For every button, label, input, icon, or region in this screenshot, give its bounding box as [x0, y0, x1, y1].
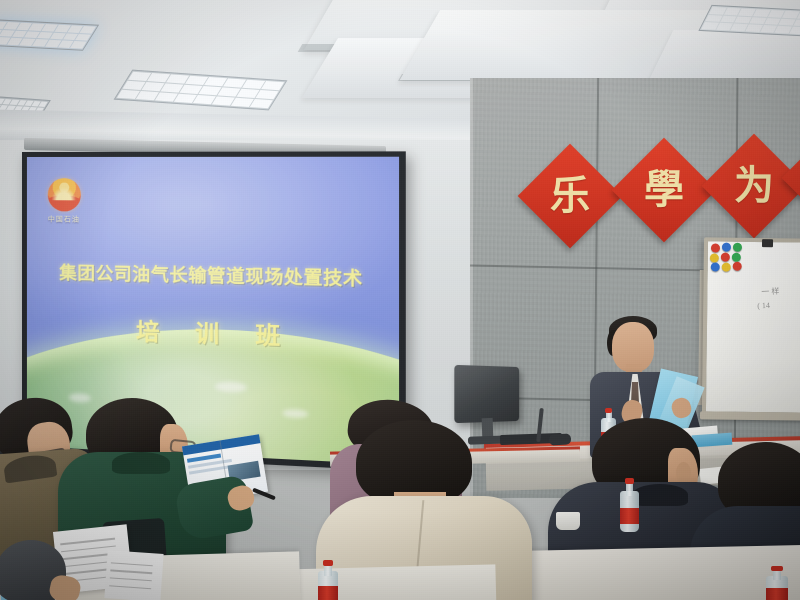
microphone-icon	[549, 433, 572, 445]
magnet-icon	[733, 262, 742, 271]
ceiling-light-icon	[0, 19, 99, 51]
cnpc-logo: 中国石油	[44, 178, 84, 231]
magnet-icon	[710, 253, 719, 262]
conference-room-photo: 乐 學 为 乐 一 样 ( 14	[0, 0, 800, 600]
attendee-green-collar	[112, 452, 170, 474]
banner-character: 乐	[550, 176, 590, 216]
water-bottle	[318, 560, 338, 600]
printed-notes	[104, 550, 163, 600]
lcd-monitor	[454, 365, 519, 423]
magnet-icon	[721, 253, 730, 262]
magnet-icon	[722, 243, 731, 252]
whiteboard-note-line: 一 样	[761, 286, 779, 299]
attendee-suit1-collar	[632, 484, 688, 506]
banner-character: 學	[644, 170, 684, 210]
magnet-icon	[732, 253, 741, 262]
magnet-icon	[711, 243, 720, 252]
projected-slide: 中国石油 集团公司油气长输管道现场处置技术 培 训 班	[27, 157, 399, 465]
whiteboard-clip	[762, 239, 773, 247]
logo-caption: 中国石油	[44, 214, 84, 224]
slide-title: 集团公司油气长输管道现场处置技术	[27, 259, 399, 292]
banner-character: 为	[734, 166, 774, 206]
paper-cup	[556, 512, 580, 530]
sunburst-icon	[47, 178, 80, 211]
magnet-icon	[711, 262, 720, 271]
water-bottle	[766, 566, 788, 600]
ceiling-coffer	[647, 30, 800, 85]
attendee-suit1-ear	[676, 462, 691, 484]
water-bottle	[620, 478, 639, 532]
whiteboard-marker-tray	[700, 411, 800, 420]
wall-edge	[470, 78, 473, 498]
magnet-icon	[722, 263, 731, 272]
whiteboard-note-line: ( 14	[757, 300, 770, 312]
magnet-icon	[733, 243, 742, 252]
whiteboard: 一 样 ( 14	[702, 237, 800, 416]
